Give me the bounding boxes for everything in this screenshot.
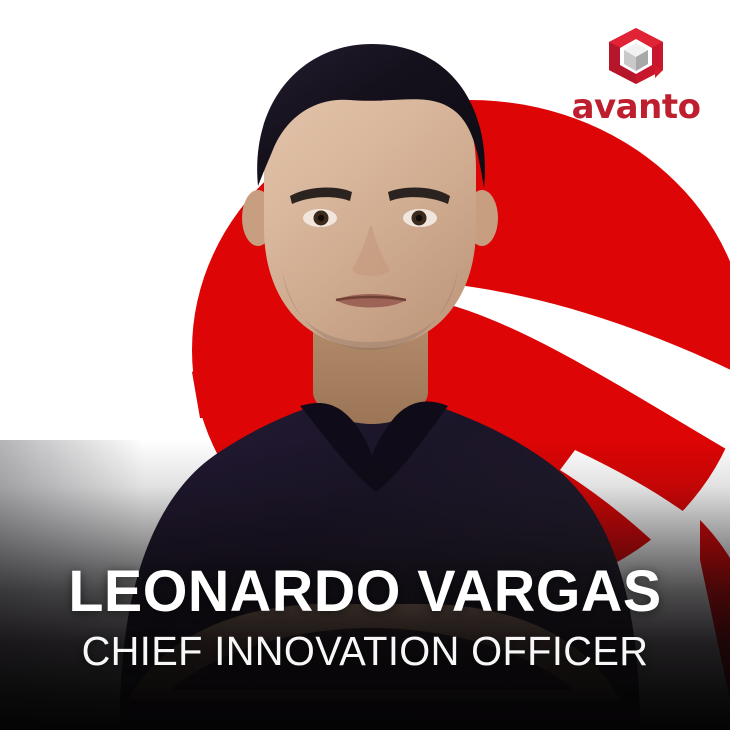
pupil-left (318, 215, 324, 221)
speaker-caption: LEONARDO VARGAS CHIEF INNOVATION OFFICER (0, 563, 730, 672)
pupil-right (416, 215, 422, 221)
speaker-name: LEONARDO VARGAS (4, 563, 727, 621)
speaker-title: CHIEF INNOVATION OFFICER (11, 631, 719, 672)
avanto-logo[interactable]: avanto (568, 26, 704, 124)
avanto-hexagon-cube-logo-icon (605, 26, 667, 86)
speaker-profile-card: avanto LEONARDO VARGAS CHIEF INNOVATION … (0, 0, 730, 730)
avanto-wordmark: avanto (572, 90, 701, 124)
